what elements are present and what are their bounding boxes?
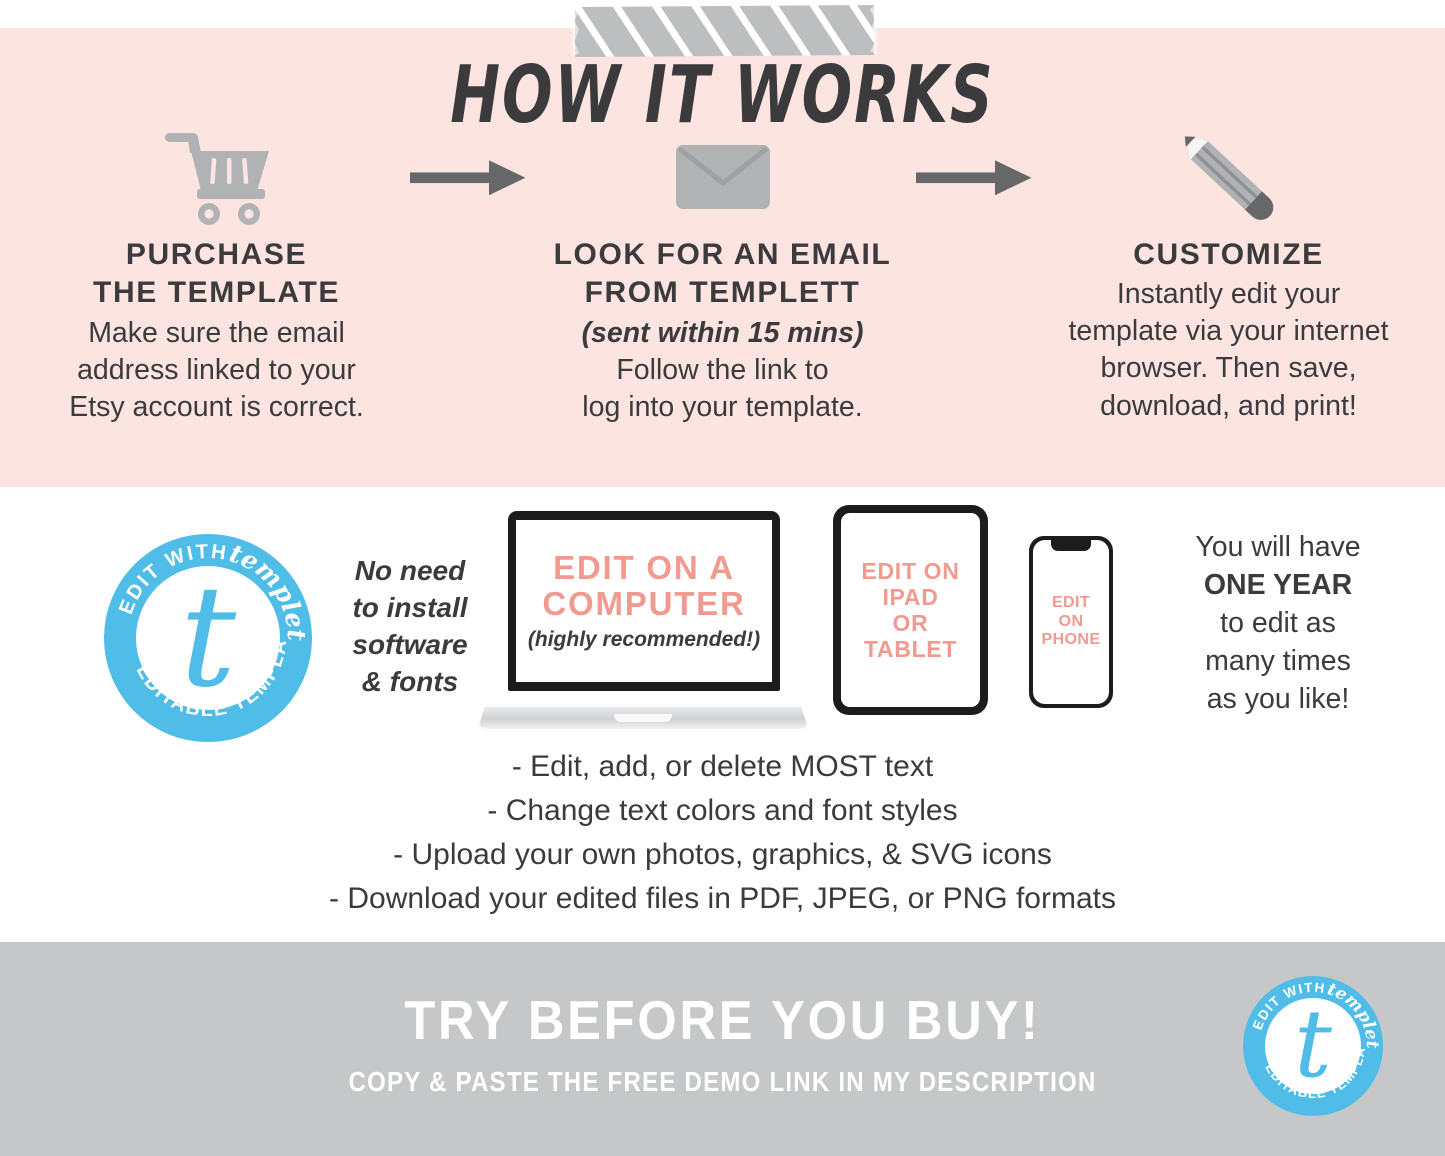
phone-text-line1: EDIT	[1042, 594, 1101, 613]
list-item: - Download your edited files in PDF, JPE…	[0, 877, 1445, 921]
footer-title: TRY BEFORE YOU BUY!	[58, 988, 1387, 1052]
one-year-line5: as you like!	[1128, 681, 1428, 719]
laptop-screen: EDIT ON A COMPUTER (highly recommended!)	[516, 520, 772, 682]
list-item: - Edit, add, or delete MOST text	[0, 745, 1445, 789]
step-body: (sent within 15 mins) Follow the link to…	[530, 315, 916, 426]
phone-screen: EDIT ON PHONE	[1033, 540, 1109, 704]
tablet-text-line3: OR	[861, 610, 959, 636]
step-body-line3: Etsy account is correct.	[24, 389, 410, 426]
step-body-line1: Instantly edit your	[1036, 276, 1422, 313]
envelope-icon	[530, 118, 916, 236]
svg-text:EDIT WITH: EDIT WITH	[1250, 980, 1327, 1032]
no-need-line3: software	[330, 627, 490, 664]
no-need-text: No need to install software & fonts	[330, 553, 490, 701]
step-heading: PURCHASE THE TEMPLATE	[24, 236, 410, 313]
tablet-text-line4: TABLET	[861, 636, 959, 662]
step-heading-line1: LOOK FOR AN EMAIL	[530, 236, 916, 274]
laptop-text-line2: COMPUTER	[542, 586, 745, 622]
tablet-text-line1: EDIT ON	[861, 558, 959, 584]
list-item: - Change text colors and font styles	[0, 789, 1445, 833]
badge-arc-text: EDIT WITH templett EDITABLE TEMPLATE	[104, 534, 312, 742]
phone-body: EDIT ON PHONE	[1029, 536, 1113, 708]
laptop-text-line1: EDIT ON A	[553, 550, 735, 586]
step-body-line3: browser. Then save,	[1036, 350, 1422, 387]
phone-notch	[1051, 540, 1091, 551]
templett-badge-small: t EDIT WITH templett EDITABLE TEMPLATE	[1243, 976, 1383, 1116]
one-year-line4: many times	[1128, 643, 1428, 681]
laptop-trackpad-notch	[614, 714, 672, 722]
step-purchase: PURCHASE THE TEMPLATE Make sure the emai…	[24, 118, 410, 426]
laptop-lid: EDIT ON A COMPUTER (highly recommended!)	[508, 511, 780, 691]
no-need-line1: No need	[330, 553, 490, 590]
arrow-right-icon-2	[916, 118, 1036, 236]
one-year-line3: to edit as	[1128, 605, 1428, 643]
phone-text-line2: ON	[1042, 613, 1101, 632]
step-body-line3: log into your template.	[530, 389, 916, 426]
step-body-line4: download, and print!	[1036, 388, 1422, 425]
step-body-line2: Follow the link to	[530, 352, 916, 389]
step-heading: CUSTOMIZE	[1036, 236, 1422, 274]
step-body: Instantly edit your template via your in…	[1036, 276, 1422, 424]
phone-device: EDIT ON PHONE	[1029, 536, 1113, 708]
tablet-screen: EDIT ON IPAD OR TABLET	[841, 513, 980, 707]
footer-banner: TRY BEFORE YOU BUY! COPY & PASTE THE FRE…	[0, 942, 1445, 1156]
washi-tape-icon	[575, 5, 874, 57]
laptop-subtitle: (highly recommended!)	[528, 628, 760, 652]
no-need-line4: & fonts	[330, 664, 490, 701]
arrow-right-icon-1	[410, 118, 530, 236]
feature-bullet-list: - Edit, add, or delete MOST text - Chang…	[0, 745, 1445, 921]
step-body-line1: Make sure the email	[24, 315, 410, 352]
templett-badge-large: t EDIT WITH templett EDITABLE TEMPLATE	[104, 534, 312, 742]
laptop-device: EDIT ON A COMPUTER (highly recommended!)	[478, 511, 808, 729]
step-heading-line1: CUSTOMIZE	[1036, 236, 1422, 274]
steps-row: PURCHASE THE TEMPLATE Make sure the emai…	[0, 118, 1445, 458]
one-year-line1: You will have	[1128, 529, 1428, 567]
devices-row: t EDIT WITH templett EDITABLE TEMPLATE N	[0, 505, 1445, 740]
step-look-for-email: LOOK FOR AN EMAIL FROM TEMPLETT (sent wi…	[530, 118, 916, 426]
step-customize: CUSTOMIZE Instantly edit your template v…	[1036, 118, 1422, 425]
shopping-cart-icon	[24, 118, 410, 236]
tablet-text-line2: IPAD	[861, 584, 959, 610]
list-item: - Upload your own photos, graphics, & SV…	[0, 833, 1445, 877]
tablet-device: EDIT ON IPAD OR TABLET	[833, 505, 988, 715]
step-body-note: (sent within 15 mins)	[530, 315, 916, 352]
step-heading-line2: THE TEMPLATE	[24, 274, 410, 312]
footer-subtitle: COPY & PASTE THE FREE DEMO LINK IN MY DE…	[101, 1066, 1344, 1098]
step-heading-line2: FROM TEMPLETT	[530, 274, 916, 312]
no-need-line2: to install	[330, 590, 490, 627]
badge-arc-text: EDIT WITH templett EDITABLE TEMPLATE	[1243, 976, 1383, 1116]
one-year-text: You will have ONE YEAR to edit as many t…	[1128, 529, 1428, 718]
phone-text-line3: PHONE	[1042, 631, 1101, 650]
step-heading: LOOK FOR AN EMAIL FROM TEMPLETT	[530, 236, 916, 313]
step-body-line2: template via your internet	[1036, 313, 1422, 350]
pencil-icon	[1036, 118, 1422, 236]
tablet-body: EDIT ON IPAD OR TABLET	[833, 505, 988, 715]
one-year-highlight: ONE YEAR	[1128, 567, 1428, 605]
step-body-line2: address linked to your	[24, 352, 410, 389]
step-body: Make sure the email address linked to yo…	[24, 315, 410, 426]
step-heading-line1: PURCHASE	[24, 236, 410, 274]
features-section: t EDIT WITH templett EDITABLE TEMPLATE N	[0, 487, 1445, 942]
svg-text:EDIT WITH: EDIT WITH	[115, 541, 229, 618]
